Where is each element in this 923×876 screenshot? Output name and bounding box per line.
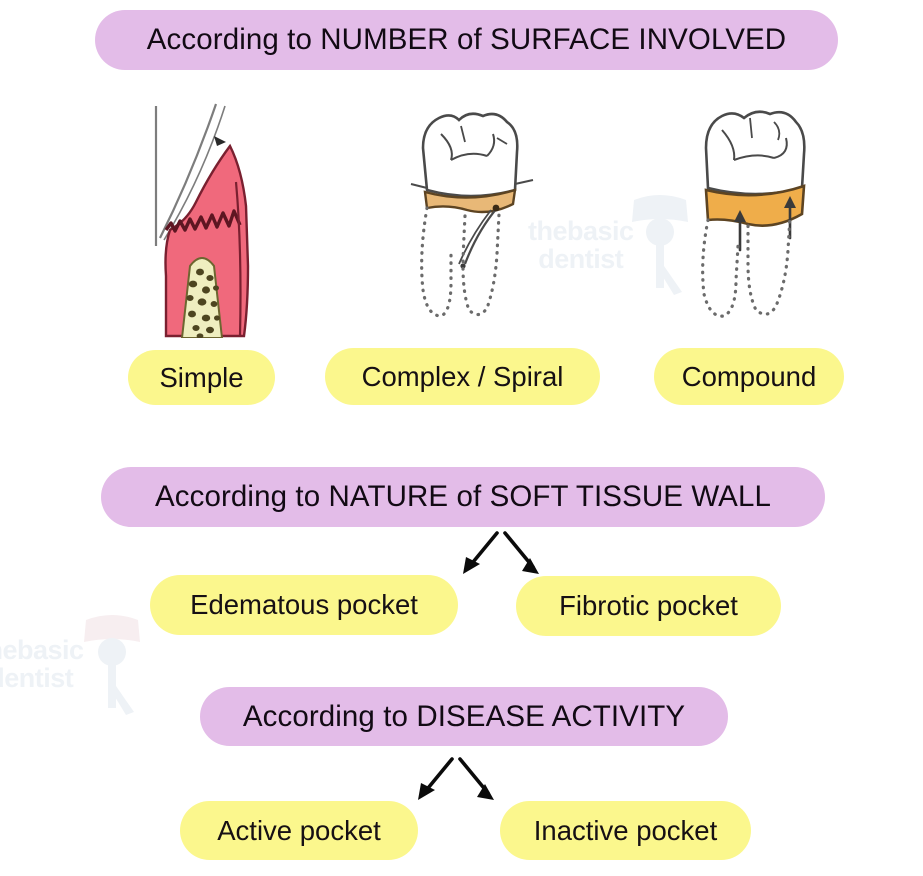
arrow-right-head — [522, 558, 539, 574]
gingival-margin-right — [515, 180, 533, 184]
label-active-pocket: Active pocket — [180, 801, 418, 860]
label-complex-spiral: Complex / Spiral — [325, 348, 600, 405]
root-outline-mesial — [422, 208, 451, 316]
section-header-surface: According to NUMBER of SURFACE INVOLVED — [95, 10, 838, 70]
branch-arrows-disease — [398, 757, 513, 812]
figure-simple-pocket — [130, 98, 290, 338]
root-outline-mesial — [703, 220, 738, 316]
arrow-right-head — [477, 784, 494, 800]
watermark-left: thebasic dentist — [0, 637, 84, 692]
label-compound: Compound — [654, 348, 844, 405]
spiral-pocket-path-inner — [459, 210, 491, 264]
root-outline-distal — [748, 216, 790, 314]
gingival-margin-left — [411, 184, 427, 188]
watermark-left-line1: thebasic — [0, 635, 84, 665]
spiral-pocket-path — [465, 208, 497, 264]
figure-compound-pocket — [678, 104, 833, 339]
diagram-canvas: thebasic dentist thebasic dentist Accord… — [0, 0, 923, 876]
section-header-disease: According to DISEASE ACTIVITY — [200, 687, 728, 746]
watermark-left-line2: dentist — [0, 663, 73, 693]
label-inactive-pocket: Inactive pocket — [500, 801, 751, 860]
label-simple: Simple — [128, 350, 275, 405]
molar-crown — [706, 112, 804, 194]
pocket-entry-point — [493, 205, 500, 212]
label-edematous-pocket: Edematous pocket — [150, 575, 458, 635]
label-fibrotic-pocket: Fibrotic pocket — [516, 576, 781, 636]
watermark-line2: dentist — [538, 244, 623, 274]
section-header-nature: According to NATURE of SOFT TISSUE WALL — [101, 467, 825, 527]
probe-arrow-head — [214, 136, 226, 146]
figure-complex-spiral-pocket — [393, 104, 548, 339]
watermark-figure-left-icon — [72, 612, 152, 717]
